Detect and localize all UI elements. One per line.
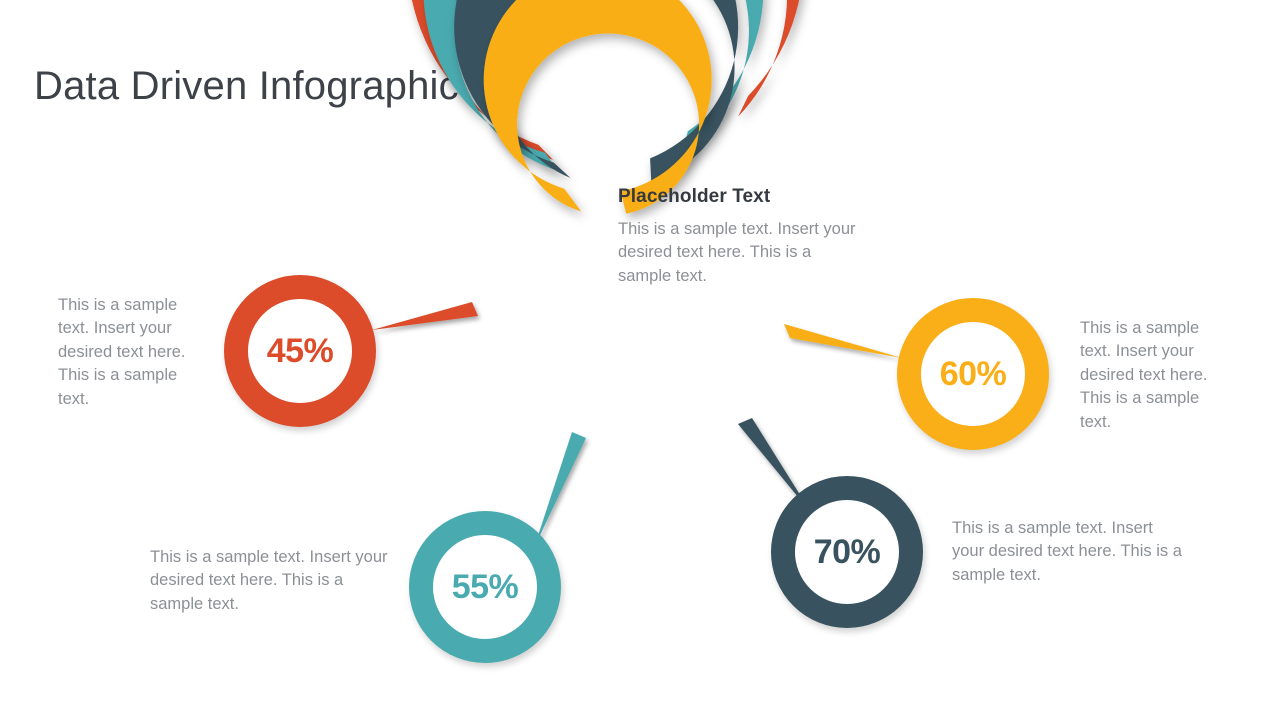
percentage-label-55: 55% [452,570,519,604]
percentage-circle-70[interactable]: 70% [771,476,923,628]
center-text-block: Placeholder Text This is a sample text. … [618,186,856,288]
center-heading: Placeholder Text [618,186,856,208]
percentage-circle-45[interactable]: 45% [224,275,376,427]
caption-70: This is a sample text. Insert your desir… [952,517,1184,587]
percentage-circle-60[interactable]: 60% [897,298,1049,450]
percentage-circle-55[interactable]: 55% [409,511,561,663]
percentage-label-70: 70% [814,535,881,569]
caption-45: This is a sample text. Insert your desir… [58,294,210,411]
caption-55: This is a sample text. Insert your desir… [150,546,390,616]
connector-line-red [372,302,478,330]
caption-60: This is a sample text. Insert your desir… [1080,317,1232,434]
arc-segment-amber [484,0,712,214]
slide-canvas: Data Driven Infographic [0,0,1280,720]
connector-line-teal [534,432,586,548]
connector-line-amber [784,324,902,358]
center-body-text: This is a sample text. Insert your desir… [618,218,856,288]
arc-rings [408,0,804,214]
percentage-label-60: 60% [940,357,1007,391]
percentage-label-45: 45% [267,334,334,368]
